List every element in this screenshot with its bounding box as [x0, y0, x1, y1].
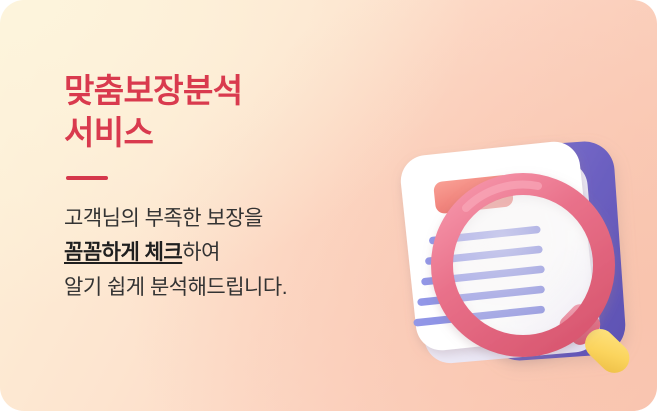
description-emphasis: 꼼꼼하게 체크 [64, 241, 182, 264]
description-text: 고객님의 부족한 보장을 꼼꼼하게 체크하여 알기 쉽게 분석해드립니다. [64, 202, 404, 304]
title-divider [66, 176, 108, 180]
magnifier-lens [442, 184, 604, 346]
description-line-1: 고객님의 부족한 보장을 [64, 202, 404, 236]
document-magnifier-illustration [388, 126, 650, 382]
page-title: 맞춤보장분석 서비스 [64, 70, 404, 154]
lens-glass [453, 195, 593, 335]
description-line-2-rest: 하여 [182, 241, 220, 264]
promo-banner: 맞춤보장분석 서비스 고객님의 부족한 보장을 꼼꼼하게 체크하여 알기 쉽게 … [0, 0, 657, 411]
copy-block: 맞춤보장분석 서비스 고객님의 부족한 보장을 꼼꼼하게 체크하여 알기 쉽게 … [64, 70, 404, 305]
description-line-2: 꼼꼼하게 체크하여 [64, 236, 404, 270]
description-line-3: 알기 쉽게 분석해드립니다. [64, 271, 404, 305]
